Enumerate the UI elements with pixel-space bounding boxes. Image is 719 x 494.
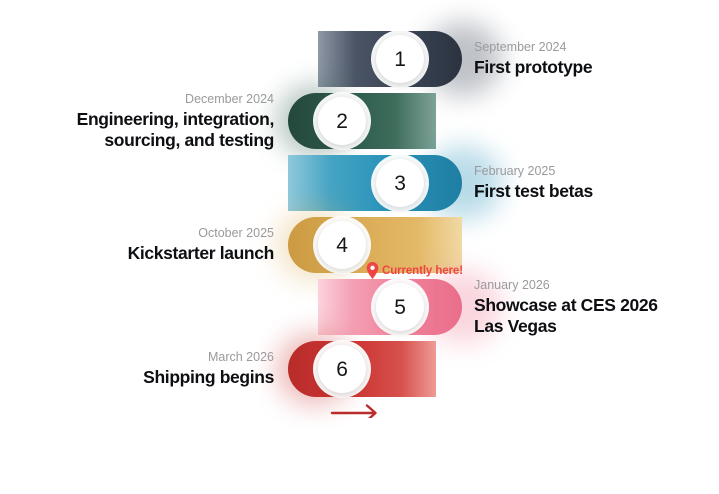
step-1-date: September 2024	[474, 40, 714, 56]
arrow-right-icon	[330, 392, 386, 418]
step-5-date: January 2026	[474, 278, 716, 294]
step-2-label: December 2024 Engineering, integration, …	[6, 90, 274, 152]
step-3-title: First test betas	[474, 181, 714, 202]
timeline-step-4[interactable]: 4 October 2025 Kickstarter launch	[0, 214, 719, 276]
timeline-step-6[interactable]: 6 March 2026 Shipping begins	[0, 338, 719, 400]
step-6-date: March 2026	[6, 350, 274, 366]
step-3-number: 3	[394, 173, 405, 194]
current-position-marker: Currently here!	[366, 262, 463, 279]
step-2-title: Engineering, integration, sourcing, and …	[6, 109, 274, 150]
step-3-label: February 2025 First test betas	[474, 152, 714, 214]
step-4-number: 4	[336, 235, 347, 256]
timeline-step-5[interactable]: 5 January 2026 Showcase at CES 2026 Las …	[0, 276, 719, 338]
step-2-number: 2	[336, 111, 347, 132]
step-2-date: December 2024	[6, 92, 274, 108]
step-3-node[interactable]: 3	[376, 159, 424, 207]
step-3-bar	[288, 155, 462, 211]
current-marker-label: Currently here!	[382, 265, 463, 277]
step-4-date: October 2025	[6, 226, 274, 242]
step-1-label: September 2024 First prototype	[474, 28, 714, 90]
step-3-date: February 2025	[474, 164, 714, 180]
step-2-node[interactable]: 2	[318, 97, 366, 145]
step-5-title: Showcase at CES 2026 Las Vegas	[474, 295, 716, 336]
step-6-title: Shipping begins	[6, 367, 274, 388]
step-4-node[interactable]: 4	[318, 221, 366, 269]
map-pin-icon	[366, 262, 379, 279]
step-5-node[interactable]: 5	[376, 283, 424, 331]
step-5-number: 5	[394, 297, 405, 318]
timeline-diagram: 1 September 2024 First prototype 2 Decem…	[0, 0, 719, 494]
step-4-label: October 2025 Kickstarter launch	[6, 214, 274, 276]
step-1-node[interactable]: 1	[376, 35, 424, 83]
step-6-node[interactable]: 6	[318, 345, 366, 393]
step-1-title: First prototype	[474, 57, 714, 78]
step-4-title: Kickstarter launch	[6, 243, 274, 264]
timeline-step-2[interactable]: 2 December 2024 Engineering, integration…	[0, 90, 719, 152]
timeline-step-3[interactable]: 3 February 2025 First test betas	[0, 152, 719, 214]
timeline-step-1[interactable]: 1 September 2024 First prototype	[0, 28, 719, 90]
step-1-number: 1	[394, 49, 405, 70]
step-5-label: January 2026 Showcase at CES 2026 Las Ve…	[474, 276, 716, 338]
step-6-number: 6	[336, 359, 347, 380]
step-6-label: March 2026 Shipping begins	[6, 338, 274, 400]
